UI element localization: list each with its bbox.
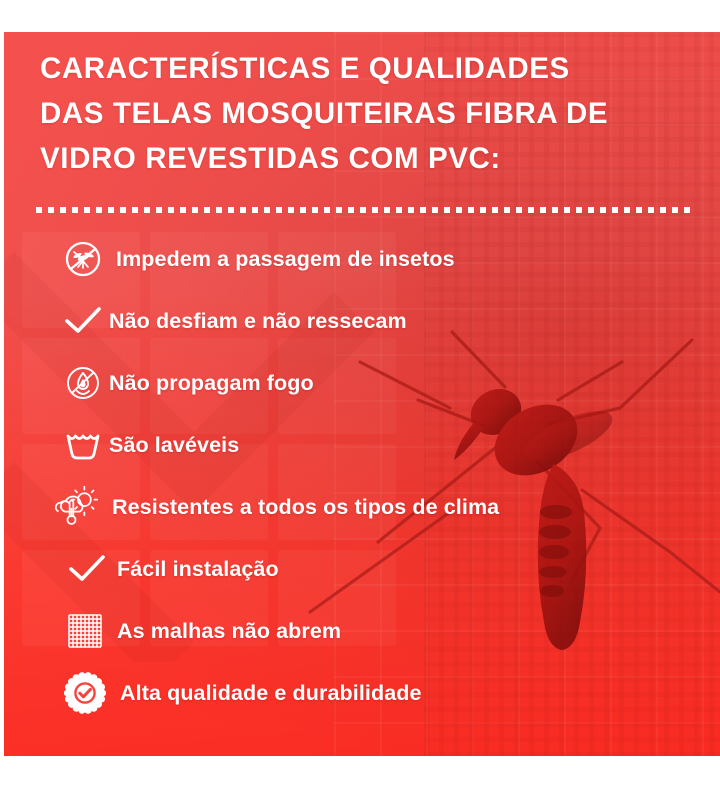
feature-item: Alta qualidade e durabilidade xyxy=(4,662,720,724)
no-fire-icon xyxy=(60,360,106,406)
feature-list: Impedem a passagem de insetos Não desfia… xyxy=(4,228,720,724)
dotted-divider xyxy=(36,207,690,213)
page-title-line-1: CARACTERÍSTICAS E QUALIDADES xyxy=(40,46,640,91)
feature-item: São lavéveis xyxy=(4,414,720,476)
feature-item-label: Impedem a passagem de insetos xyxy=(116,247,455,272)
page-title-line-2: DAS TELAS MOSQUITEIRAS FIBRA DE xyxy=(40,91,640,136)
feature-item: As malhas não abrem xyxy=(4,600,720,662)
checkmark-icon xyxy=(60,298,106,344)
poster-root: CARACTERÍSTICAS E QUALIDADES DAS TELAS M… xyxy=(0,0,720,790)
feature-item: Fácil instalação xyxy=(4,538,720,600)
mesh-grid-icon xyxy=(62,608,108,654)
feature-item: Não propagam fogo xyxy=(4,352,720,414)
feature-item-label: As malhas não abrem xyxy=(117,619,341,644)
feature-item-label: Resistentes a todos os tipos de clima xyxy=(112,495,499,520)
weather-icon xyxy=(54,484,100,530)
feature-item: Resistentes a todos os tipos de clima xyxy=(4,476,720,538)
feature-item-label: São lavéveis xyxy=(109,433,239,458)
feature-item: Impedem a passagem de insetos xyxy=(4,228,720,290)
feature-item-label: Não desfiam e não ressecam xyxy=(109,309,407,334)
no-mosquito-icon xyxy=(60,236,106,282)
checkmark-icon xyxy=(64,546,110,592)
page-title-line-3: VIDRO REVESTIDAS COM PVC: xyxy=(40,136,640,181)
feature-item-label: Não propagam fogo xyxy=(109,371,314,396)
quality-badge-icon xyxy=(62,670,108,716)
feature-item: Não desfiam e não ressecam xyxy=(4,290,720,352)
feature-item-label: Fácil instalação xyxy=(117,557,279,582)
red-panel: CARACTERÍSTICAS E QUALIDADES DAS TELAS M… xyxy=(4,32,720,756)
page-title: CARACTERÍSTICAS E QUALIDADES DAS TELAS M… xyxy=(40,46,640,181)
wash-tub-icon xyxy=(60,422,106,468)
feature-item-label: Alta qualidade e durabilidade xyxy=(120,681,422,706)
